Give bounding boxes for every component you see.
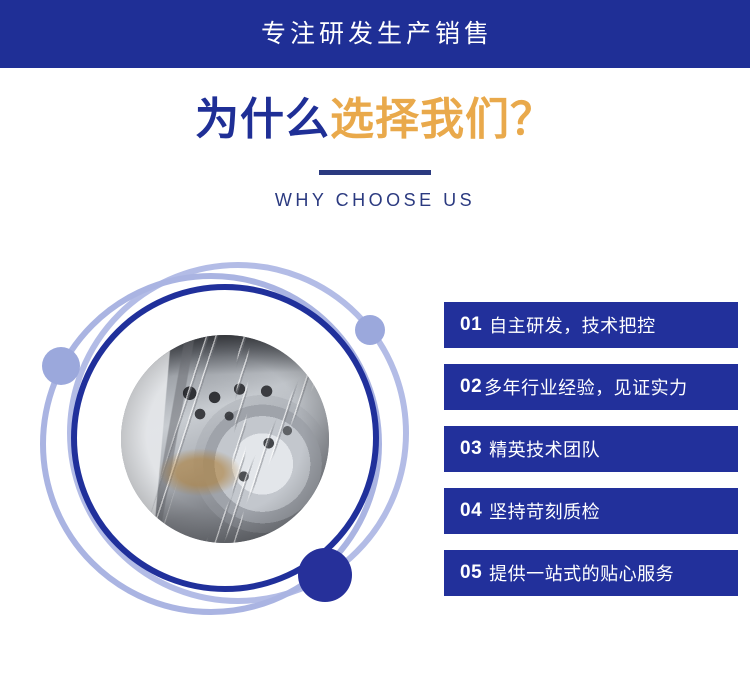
photo-layer-vignette [121, 335, 329, 543]
feature-label-04: 坚持苛刻质检 [489, 498, 600, 524]
feature-item-03[interactable]: 03 精英技术团队 [444, 426, 738, 472]
top-banner: 专注研发生产销售 [0, 0, 750, 68]
feature-label-01: 自主研发，技术把控 [489, 312, 656, 338]
circular-graphic [33, 252, 423, 627]
page-subtitle: WHY CHOOSE US [0, 190, 750, 211]
feature-item-05[interactable]: 05 提供一站式的贴心服务 [444, 550, 738, 596]
feature-item-02[interactable]: 02 多年行业经验，见证实力 [444, 364, 738, 410]
machinery-photo [121, 335, 329, 543]
feature-number-03: 03 [460, 438, 482, 460]
feature-number-04: 04 [460, 500, 482, 522]
dot-light-upper-left [42, 347, 80, 385]
page-title-orange-part: 选择我们？ [330, 95, 555, 144]
feature-label-03: 精英技术团队 [489, 436, 600, 462]
dot-dark-lower-right [298, 548, 352, 602]
top-banner-text: 专注研发生产销售 [257, 22, 493, 47]
page-title: 为什么选择我们？ [0, 95, 750, 146]
feature-number-02: 02 [460, 376, 482, 398]
dot-light-upper-right [355, 315, 385, 345]
section-heading: 为什么选择我们？ WHY CHOOSE US [0, 95, 750, 211]
feature-item-01[interactable]: 01 自主研发，技术把控 [444, 302, 738, 348]
feature-number-05: 05 [460, 562, 482, 584]
feature-list: 01 自主研发，技术把控 02 多年行业经验，见证实力 03 精英技术团队 04… [444, 302, 738, 596]
page-title-blue-part: 为什么 [195, 95, 330, 144]
feature-label-02: 多年行业经验，见证实力 [484, 374, 688, 400]
feature-label-05: 提供一站式的贴心服务 [489, 560, 674, 586]
title-divider [319, 170, 431, 175]
feature-number-01: 01 [460, 314, 482, 336]
feature-item-04[interactable]: 04 坚持苛刻质检 [444, 488, 738, 534]
